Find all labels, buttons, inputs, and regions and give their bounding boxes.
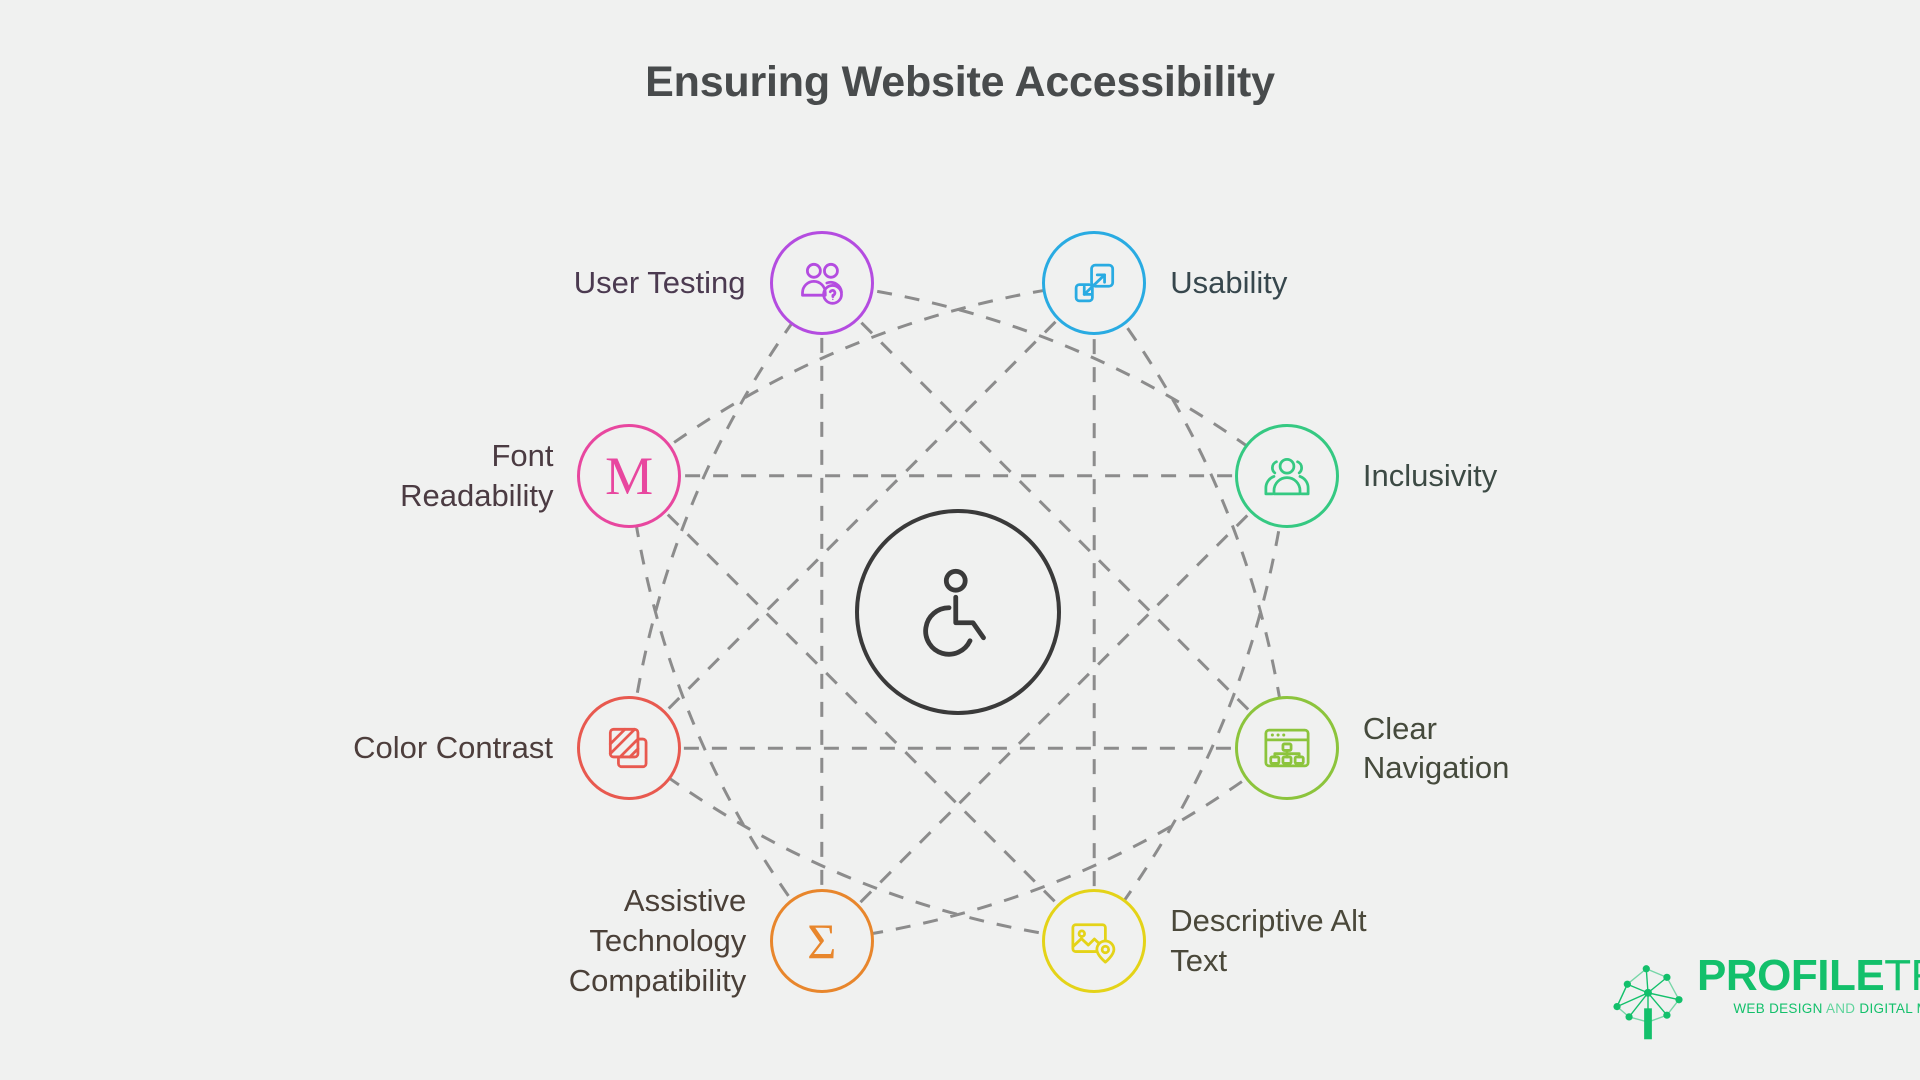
label-clear-navigation: Clear Navigation <box>1363 709 1509 788</box>
label-inclusivity: Inclusivity <box>1363 456 1497 496</box>
node-assistive-technology-compatibility[interactable]: Σ <box>770 889 874 993</box>
logo-tagline-part-b: AND <box>1826 1001 1859 1016</box>
group-people-icon <box>1261 450 1313 502</box>
logo-tagline-part-c: DIGITAL MARKETING <box>1859 1001 1920 1016</box>
logo-brand-bold: PROFILE <box>1697 951 1884 1000</box>
sigma-symbol-icon: Σ <box>807 916 836 966</box>
node-inclusivity[interactable] <box>1235 424 1339 528</box>
sitemap-browser-icon <box>1261 722 1313 774</box>
profiletree-logo: PROFILETREE WEB DESIGN AND DIGITAL MARKE… <box>1605 955 1920 1046</box>
label-font-readability: Font Readability <box>400 436 553 515</box>
label-descriptive-alt-text: Descriptive Alt Text <box>1170 901 1366 980</box>
profiletree-network-tree-logo <box>1605 955 1691 1046</box>
infographic-canvas: Ensuring Website Accessibility User Test… <box>0 0 1920 1080</box>
node-clear-navigation[interactable] <box>1235 696 1339 800</box>
users-question-icon <box>796 257 848 309</box>
image-location-pin-icon <box>1068 915 1120 967</box>
contrast-layers-icon <box>603 722 655 774</box>
label-user-testing: User Testing <box>574 263 746 303</box>
letter-m-serif-icon: M <box>605 449 653 503</box>
label-assistive-technology-compatibility: Assistive Technology Compatibility <box>569 881 746 1000</box>
label-usability: Usability <box>1170 263 1287 303</box>
wheelchair-accessibility-icon <box>910 562 1006 663</box>
responsive-resize-icon <box>1068 257 1120 309</box>
logo-brand-light: TREE <box>1884 951 1920 1000</box>
logo-tagline-part-a: WEB DESIGN <box>1733 1001 1826 1016</box>
label-color-contrast: Color Contrast <box>353 728 553 768</box>
center-node-accessibility <box>855 509 1061 715</box>
node-color-contrast[interactable] <box>577 696 681 800</box>
node-font-readability[interactable]: M <box>577 424 681 528</box>
node-descriptive-alt-text[interactable] <box>1042 889 1146 993</box>
node-user-testing[interactable] <box>770 231 874 335</box>
node-usability[interactable] <box>1042 231 1146 335</box>
